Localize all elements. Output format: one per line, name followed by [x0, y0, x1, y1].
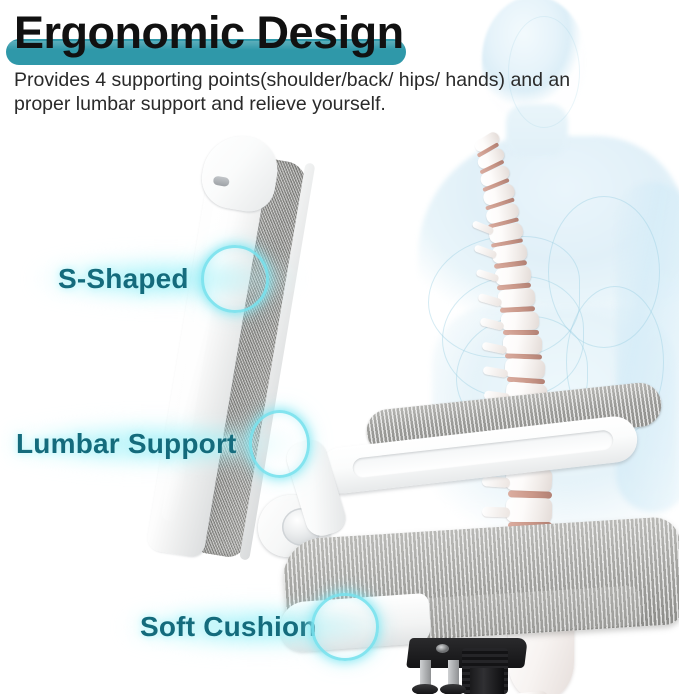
- caster-stem: [448, 660, 459, 686]
- callout-ring-icon: [201, 245, 269, 313]
- caster-stem: [420, 660, 431, 686]
- caster-wheel: [440, 684, 466, 694]
- gas-cylinder-shaft: [470, 668, 504, 694]
- callout-s-shaped: S-Shaped: [32, 240, 302, 318]
- header: Ergonomic Design Provides 4 supporting p…: [0, 0, 679, 130]
- mechanism-screw: [436, 644, 449, 653]
- callout-label-lumbar-support: Lumbar Support: [16, 428, 237, 460]
- callout-label-soft-cushion: Soft Cushion: [140, 611, 317, 643]
- caster-wheel: [412, 684, 438, 694]
- callout-soft-cushion: Soft Cushion: [122, 588, 398, 666]
- callout-ring-icon: [249, 410, 310, 478]
- product-infographic: Ergonomic Design Provides 4 supporting p…: [0, 0, 679, 694]
- page-title: Ergonomic Design: [14, 8, 404, 58]
- callout-label-s-shaped: S-Shaped: [58, 263, 189, 295]
- page-subtitle: Provides 4 supporting points(shoulder/ba…: [14, 68, 614, 116]
- callout-ring-icon: [311, 593, 379, 661]
- callout-lumbar-support: Lumbar Support: [2, 405, 310, 483]
